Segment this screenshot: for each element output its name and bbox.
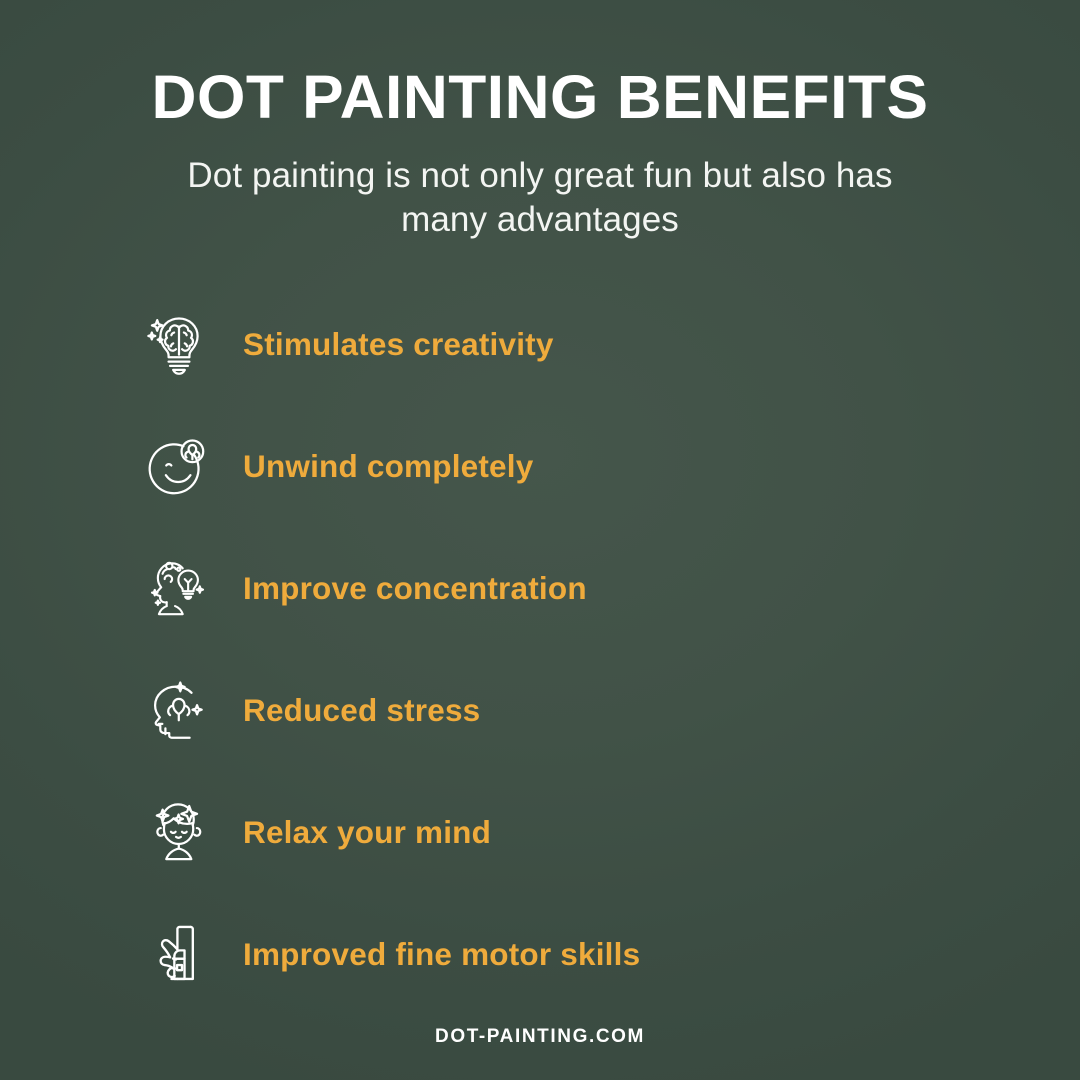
list-item: Stimulates creativity [143,283,1080,405]
head-lotus-sparkles-icon [143,674,215,746]
head-profile-lightbulb-icon [143,552,215,624]
page-subtitle: Dot painting is not only great fun but a… [145,154,935,241]
benefit-label: Improve concentration [243,570,587,607]
poster-header: DOT PAINTING BENEFITS Dot painting is no… [0,0,1080,241]
benefit-label: Relax your mind [243,814,491,851]
benefit-label: Improved fine motor skills [243,936,640,973]
benefits-list: Stimulates creativity Unwind completely [0,283,1080,1015]
list-item: Reduced stress [143,649,1080,771]
list-item: Unwind completely [143,405,1080,527]
benefit-label: Reduced stress [243,692,480,729]
hand-holding-pen-icon [143,918,215,990]
website-url: DOT-PAINTING.COM [435,1026,645,1047]
poster-footer: DOT-PAINTING.COM [0,1026,1080,1048]
lightbulb-brain-sparkles-icon [143,308,215,380]
poster-canvas: DOT PAINTING BENEFITS Dot painting is no… [0,0,1080,1080]
page-title: DOT PAINTING BENEFITS [0,66,1080,128]
list-item: Relax your mind [143,771,1080,893]
smiley-face-flower-icon [143,430,215,502]
benefit-label: Unwind completely [243,448,533,485]
list-item: Improve concentration [143,527,1080,649]
relaxed-face-stars-icon [143,796,215,868]
list-item: Improved fine motor skills [143,893,1080,1015]
benefit-label: Stimulates creativity [243,326,554,363]
